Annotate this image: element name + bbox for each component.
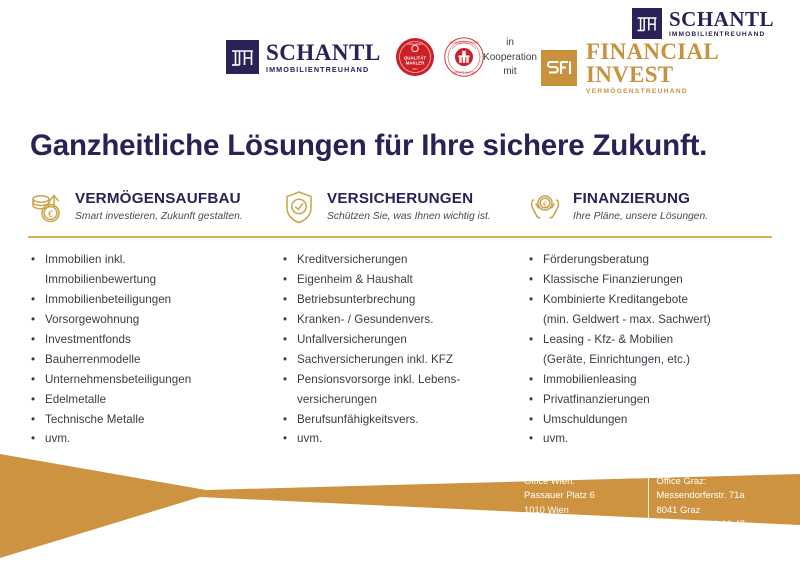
- svg-text:2024: 2024: [412, 68, 418, 71]
- sfi-monogram-icon: [541, 50, 577, 86]
- section-header-vermoegensaufbau: € VERMÖGENSAUFBAU Smart investieren, Zuk…: [28, 186, 280, 228]
- sfi-financial-invest-logo: FINANCIAL INVEST VERMÖGENSTREUHAND: [541, 40, 800, 96]
- list-item: Kreditversicherungen: [280, 250, 526, 270]
- svg-text:GEPRÜFTE QUALITÄT: GEPRÜFTE QUALITÄT: [452, 72, 477, 75]
- list-item: Edelmetalle: [28, 390, 280, 410]
- office-label: Office Wien:: [524, 474, 625, 488]
- cooperation-line-3: mit: [478, 65, 542, 80]
- list-item: Pensionsvorsorge inkl. Lebens-: [280, 370, 526, 390]
- office-city: 1010 Wien: [524, 503, 625, 517]
- office-email[interactable]: E: office@sfi-invest.com: [524, 531, 625, 545]
- list-item: Kombinierte Kreditangebote: [526, 290, 772, 310]
- list-item: Förderungsberatung: [526, 250, 772, 270]
- schantl-wordmark-topright: SCHANTL IMMOBILIENTREUHAND: [669, 9, 774, 39]
- cooperation-note: in Kooperation mit: [478, 36, 542, 80]
- list-item: Immobilienbeteiligungen: [28, 290, 280, 310]
- schantl-logo-lockup: SCHANTL IMMOBILIENTREUHAND: [226, 40, 381, 74]
- list-item: Privatfinanzierungen: [526, 390, 772, 410]
- sfi-wordmark: FINANCIAL INVEST VERMÖGENSTREUHAND: [586, 40, 800, 96]
- schantl-subtitle-topright: IMMOBILIENTREUHAND: [669, 32, 774, 39]
- cooperation-line-1: in: [478, 36, 542, 51]
- list-item: Umschuldungen: [526, 410, 772, 430]
- list-item: Bauherrenmodelle: [28, 350, 280, 370]
- service-list-versicherungen: Kreditversicherungen Eigenheim & Haushal…: [280, 250, 526, 449]
- section-title: VERMÖGENSAUFBAU: [75, 191, 243, 208]
- svg-text:€: €: [48, 209, 53, 219]
- office-graz-block: Office Graz: Messendorferstr. 71a 8041 G…: [641, 474, 753, 545]
- schantl-logo-center: SCHANTL IMMOBILIENTREUHAND Fachverband Q…: [226, 36, 485, 78]
- coins-euro-growth-icon: €: [28, 188, 66, 226]
- list-item: Kranken- / Gesundenvers.: [280, 310, 526, 330]
- contact-divider: [648, 472, 649, 546]
- section-header-finanzierung: € FINANZIERUNG Ihre Pläne, unsere Lösung…: [526, 186, 772, 228]
- schantl-logo-topright: SCHANTL IMMOBILIENTREUHAND: [632, 8, 774, 39]
- list-item: Leasing - Kfz- & Mobilien: [526, 330, 772, 350]
- svg-text:Fachverband: Fachverband: [407, 42, 423, 46]
- section-title: VERSICHERUNGEN: [327, 191, 491, 208]
- list-item: (min. Geldwert - max. Sachwert): [526, 310, 772, 330]
- schantl-name: SCHANTL: [266, 41, 381, 64]
- svg-text:MAKLER: MAKLER: [405, 61, 425, 66]
- office-wien-block: Office Wien: Passauer Platz 6 1010 Wien …: [524, 474, 625, 545]
- section-title: FINANZIERUNG: [573, 191, 708, 208]
- qualitaets-makler-seal-icon: Fachverband QUALITÄT MAKLER 2024: [394, 36, 436, 78]
- section-header-versicherungen: VERSICHERUNGEN Schützen Sie, was Ihnen w…: [280, 186, 526, 228]
- bullet-list: Kreditversicherungen Eigenheim & Haushal…: [280, 250, 526, 449]
- ith-monogram-icon: [226, 40, 259, 74]
- service-list-finanzierung: Förderungsberatung Klassische Finanzieru…: [526, 250, 772, 449]
- schantl-subtitle: IMMOBILIENTREUHAND: [266, 66, 381, 73]
- list-item: Sachversicherungen inkl. KFZ: [280, 350, 526, 370]
- list-item: Immobilien inkl.: [28, 250, 280, 270]
- schantl-wordmark: SCHANTL IMMOBILIENTREUHAND: [266, 41, 381, 73]
- svg-text:IMMOBILIENTREUHÄNDER: IMMOBILIENTREUHÄNDER: [449, 41, 479, 44]
- list-item: Immobilienleasing: [526, 370, 772, 390]
- bullet-list: Förderungsberatung Klassische Finanzieru…: [526, 250, 772, 449]
- list-item: Eigenheim & Haushalt: [280, 270, 526, 290]
- office-label: Office Graz:: [657, 474, 753, 488]
- gold-divider-line: [28, 236, 772, 238]
- list-item: versicherungen: [280, 390, 526, 410]
- list-item: Unfallversicherungen: [280, 330, 526, 350]
- office-phone[interactable]: T: +43 664 541 10 47: [657, 517, 753, 531]
- sfi-name: FINANCIAL INVEST: [586, 40, 800, 86]
- service-list-vermoegensaufbau: Immobilien inkl. Immobilienbewertung Imm…: [28, 250, 280, 449]
- list-item: Investmentfonds: [28, 330, 280, 350]
- service-lists-row: Immobilien inkl. Immobilienbewertung Imm…: [28, 250, 772, 449]
- page-headline: Ganzheitliche Lösungen für Ihre sichere …: [30, 129, 707, 163]
- list-item: Berufsunfähigkeitsvers.: [280, 410, 526, 430]
- list-item: Betriebsunterbrechung: [280, 290, 526, 310]
- list-item: Unternehmensbeteiligungen: [28, 370, 280, 390]
- section-subtitle: Ihre Pläne, unsere Lösungen.: [573, 211, 708, 222]
- list-item: Klassische Finanzierungen: [526, 270, 772, 290]
- cooperation-line-2: Kooperation: [478, 51, 542, 66]
- poster-page: SCHANTL IMMOBILIENTREUHAND Fachverband Q…: [0, 0, 800, 564]
- list-item: (Geräte, Einrichtungen, etc.): [526, 350, 772, 370]
- list-item: Technische Metalle: [28, 410, 280, 430]
- svg-text:€: €: [543, 199, 547, 208]
- bullet-list: Immobilien inkl. Immobilienbewertung Imm…: [28, 250, 280, 449]
- hands-holding-coin-icon: €: [526, 188, 564, 226]
- office-street: Passauer Platz 6: [524, 488, 625, 502]
- section-headers-row: € VERMÖGENSAUFBAU Smart investieren, Zuk…: [28, 186, 772, 228]
- certification-seals: Fachverband QUALITÄT MAKLER 2024: [394, 36, 485, 78]
- schantl-name-topright: SCHANTL: [669, 9, 774, 30]
- office-phone[interactable]: T: +43 664 307 00 09: [524, 517, 625, 531]
- office-city: 8041 Graz: [657, 503, 753, 517]
- section-subtitle: Schützen Sie, was Ihnen wichtig ist.: [327, 211, 491, 222]
- office-street: Messendorferstr. 71a: [657, 488, 753, 502]
- list-item: Immobilienbewertung: [28, 270, 280, 290]
- list-item: Vorsorgewohnung: [28, 310, 280, 330]
- shield-check-icon: [280, 188, 318, 226]
- footer-contact-blocks: Office Wien: Passauer Platz 6 1010 Wien …: [524, 474, 753, 545]
- office-email[interactable]: E: office@schantl-ith.at: [657, 531, 753, 545]
- logo-bar: SCHANTL IMMOBILIENTREUHAND Fachverband Q…: [0, 0, 800, 112]
- section-subtitle: Smart investieren, Zukunft gestalten.: [75, 211, 243, 222]
- ith-monogram-icon-small: [632, 8, 662, 39]
- sfi-subtitle: VERMÖGENSTREUHAND: [586, 89, 800, 96]
